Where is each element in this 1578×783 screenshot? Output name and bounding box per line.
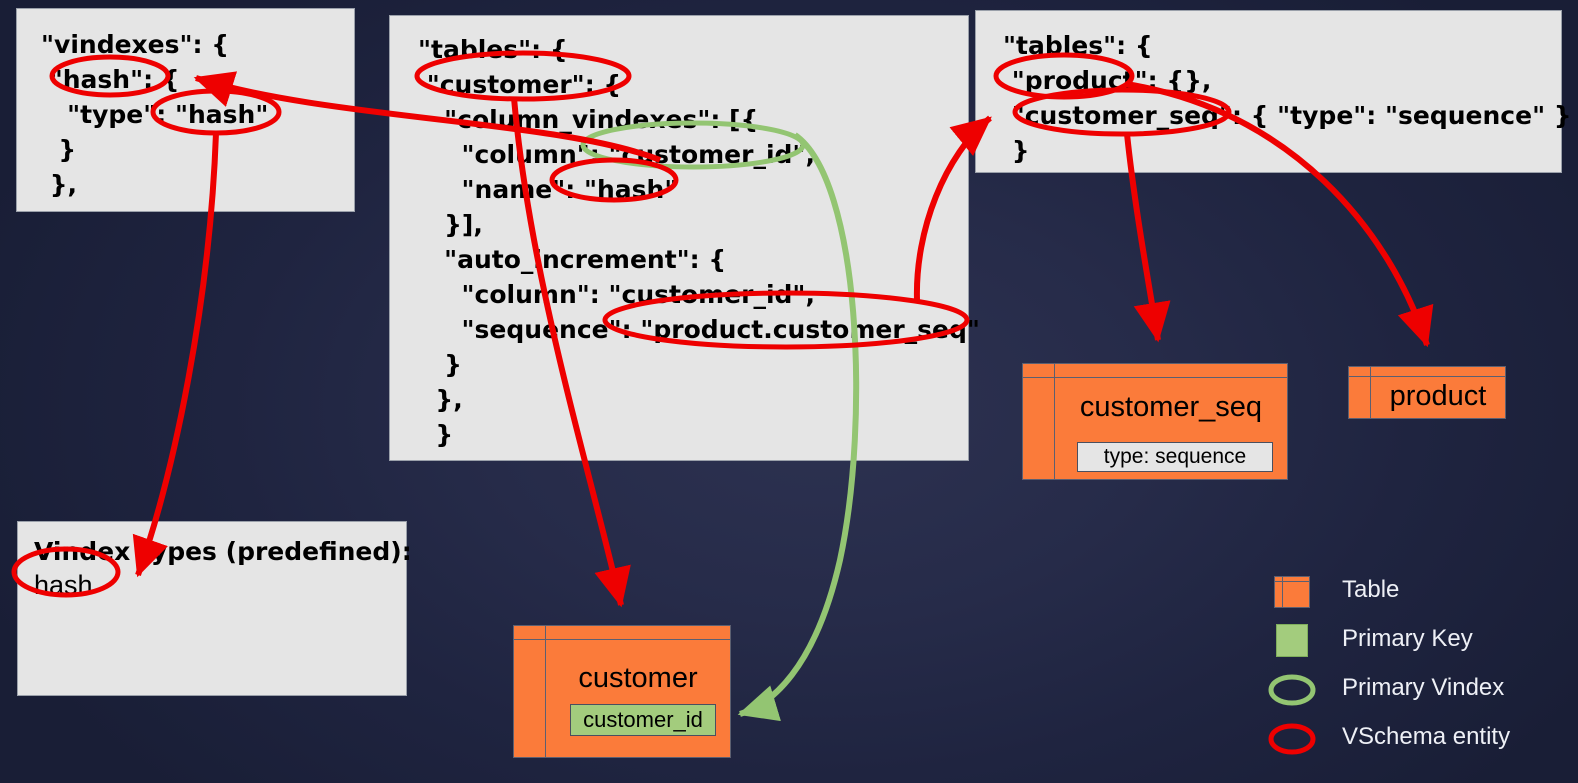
vindexes-json-code: "vindexes": { "hash": { "type": "hash" }… <box>41 27 268 202</box>
primary-key-customer-id: customer_id <box>570 704 716 736</box>
legend-label-primary-vindex: Primary Vindex <box>1342 674 1504 702</box>
table-attribute-type-sequence: type: sequence <box>1077 442 1273 472</box>
tables-customer-json-panel: "tables": { "customer": { "column_vindex… <box>389 15 969 461</box>
primary-vindex-ellipse-icon <box>1268 668 1316 712</box>
table-box-customer-seq[interactable]: customer_seq type: sequence <box>1022 363 1288 480</box>
legend-label-table: Table <box>1342 576 1399 604</box>
table-header-strip <box>1349 367 1505 377</box>
table-swatch-icon <box>1268 570 1316 614</box>
table-box-customer[interactable]: customer customer_id <box>513 625 731 758</box>
table-name-customer-seq: customer_seq <box>1055 391 1287 424</box>
tables-product-json-panel: "tables": { "product": {}, "customer_seq… <box>975 10 1562 173</box>
diagram-canvas: "vindexes": { "hash": { "type": "hash" }… <box>0 0 1578 783</box>
vindexes-json-panel: "vindexes": { "hash": { "type": "hash" }… <box>16 8 355 212</box>
table-left-column-strip <box>514 626 546 757</box>
vindex-type-hash: hash <box>34 570 93 601</box>
legend-row-vschema-entity: VSchema entity <box>1268 717 1568 766</box>
vindex-types-panel: Vindex types (predefined): hash <box>17 521 407 696</box>
table-left-column-strip <box>1023 364 1055 479</box>
legend-row-primary-key: Primary Key <box>1268 619 1568 668</box>
vschema-entity-ellipse-icon <box>1268 717 1316 761</box>
table-header-strip <box>1023 364 1287 378</box>
legend-label-primary-key: Primary Key <box>1342 625 1473 653</box>
tables-product-json-code: "tables": { "product": {}, "customer_seq… <box>1003 28 1572 168</box>
legend-label-vschema-entity: VSchema entity <box>1342 723 1510 751</box>
vindex-types-heading: Vindex types (predefined): <box>34 534 412 569</box>
legend-row-table: Table <box>1268 570 1568 619</box>
table-box-product[interactable]: product <box>1348 366 1506 419</box>
legend: Table Primary Key Primary Vindex VSchema <box>1268 570 1568 766</box>
legend-row-primary-vindex: Primary Vindex <box>1268 668 1568 717</box>
primary-key-swatch-icon <box>1268 619 1316 663</box>
table-left-column-strip <box>1349 367 1371 418</box>
table-name-customer: customer <box>546 662 730 695</box>
table-name-product: product <box>1371 380 1505 413</box>
tables-customer-json-code: "tables": { "customer": { "column_vindex… <box>418 32 980 452</box>
table-header-strip <box>514 626 730 640</box>
